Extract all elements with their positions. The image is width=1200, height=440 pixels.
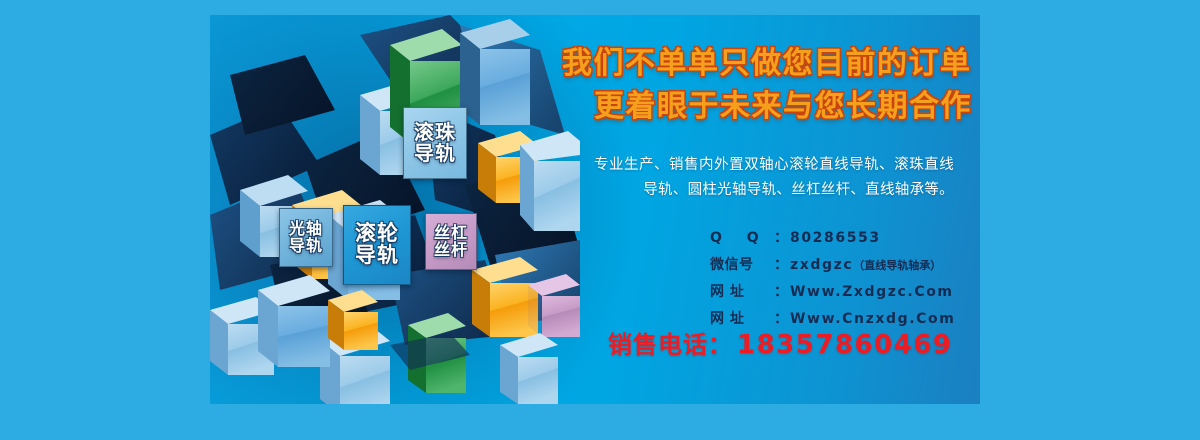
contact-value-qq: 80286553 bbox=[790, 230, 881, 246]
promo-banner: 滚珠 导轨 滚轮 导轨 光轴 导轨 丝杠 丝杆 我们不单单只做您目前的订单 更着… bbox=[210, 15, 980, 404]
contact-separator: ： bbox=[774, 281, 788, 301]
contact-separator: ： bbox=[774, 227, 788, 247]
sales-phone-label: 销售电话： bbox=[608, 331, 733, 359]
product-label-line2: 导轨 bbox=[289, 238, 323, 255]
product-label-gunlun-daogui: 滚轮 导轨 bbox=[343, 205, 411, 285]
headline-line-2: 更着眼于未来与您长期合作 bbox=[594, 86, 980, 129]
product-label-line1: 光轴 bbox=[289, 221, 323, 238]
sales-phone-number: 18357860469 bbox=[737, 330, 953, 360]
company-description: 专业生产、销售内外置双轴心滚轮直线导轨、滚珠直线导轨、圆柱光轴导轨、丝杠丝杆、直… bbox=[594, 153, 954, 203]
contact-value-website-1[interactable]: Www.Zxdgzc.Com bbox=[790, 284, 954, 300]
headline-block: 我们不单单只做您目前的订单 更着眼于未来与您长期合作 bbox=[550, 43, 980, 128]
page-root: 滚珠 导轨 滚轮 导轨 光轴 导轨 丝杠 丝杆 我们不单单只做您目前的订单 更着… bbox=[0, 0, 1200, 440]
contact-info-block: Q Q ： 80286553 微信号 ： zxdgzc （直线导轨轴承） 网 址… bbox=[710, 227, 980, 335]
contact-row-qq: Q Q ： 80286553 bbox=[710, 227, 980, 247]
product-label-line2: 丝杆 bbox=[434, 242, 468, 259]
sales-phone-block: 销售电话：18357860469 bbox=[608, 325, 953, 360]
contact-label-website-1: 网 址 bbox=[710, 281, 774, 301]
contact-note-wechat: （直线导轨轴承） bbox=[853, 257, 941, 273]
contact-value-wechat: zxdgzc bbox=[790, 257, 853, 273]
contact-row-wechat: 微信号 ： zxdgzc （直线导轨轴承） bbox=[710, 254, 980, 274]
product-label-line2: 导轨 bbox=[355, 245, 399, 267]
product-label-line1: 滚珠 bbox=[414, 122, 456, 143]
product-label-line2: 导轨 bbox=[414, 143, 456, 164]
contact-row-website-1: 网 址 ： Www.Zxdgzc.Com bbox=[710, 281, 980, 301]
product-label-line1: 丝杠 bbox=[434, 225, 468, 242]
contact-separator: ： bbox=[774, 254, 788, 274]
banner-content-column: 我们不单单只做您目前的订单 更着眼于未来与您长期合作 专业生产、销售内外置双轴心… bbox=[550, 15, 980, 404]
product-label-gunzhu-daogui: 滚珠 导轨 bbox=[403, 107, 467, 179]
headline-line-1: 我们不单单只做您目前的订单 bbox=[562, 43, 980, 86]
product-label-line1: 滚轮 bbox=[355, 223, 399, 245]
contact-label-wechat: 微信号 bbox=[710, 254, 774, 274]
contact-label-qq: Q Q bbox=[710, 230, 774, 246]
product-label-guangzhou-daogui: 光轴 导轨 bbox=[279, 208, 333, 267]
product-label-sigang-sigan: 丝杠 丝杆 bbox=[425, 213, 477, 270]
